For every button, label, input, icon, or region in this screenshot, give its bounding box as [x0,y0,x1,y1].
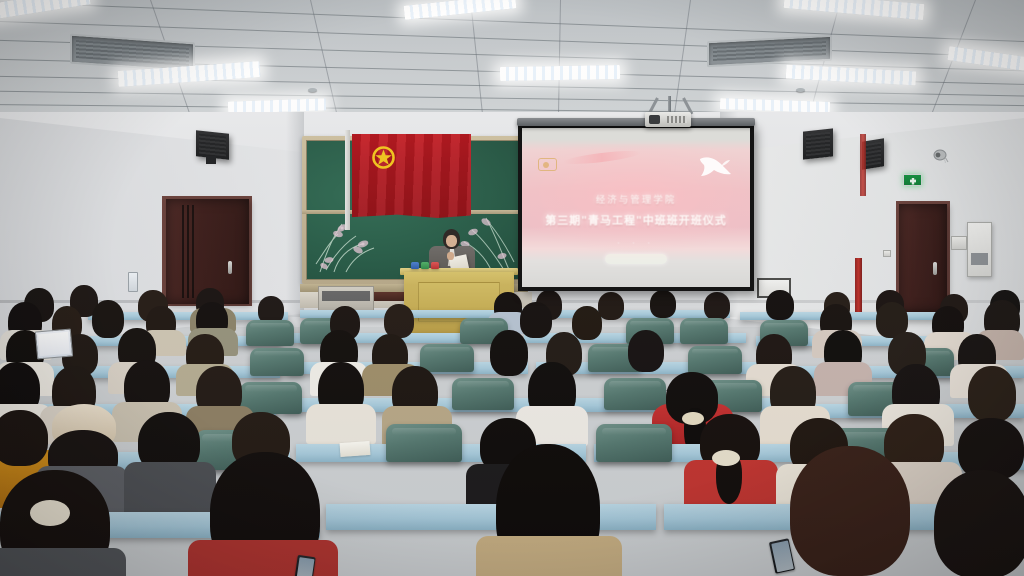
red-column [855,258,862,314]
ac-vent-right [707,35,832,68]
wall-outlet-box-right [951,236,967,250]
smoke-detector-right [796,88,805,92]
chalk-flower-drawing-left [312,214,398,280]
ceiling-light-6 [784,0,925,20]
light-switch-plate-left[interactable] [128,272,138,292]
slide-ornament-dots: · · · [522,239,750,248]
flag-star-emblem [371,145,396,170]
slide-main-line: 第三期"青马工程"中班班开班仪式 [522,212,750,228]
desk-papers[interactable] [340,441,371,457]
projection-screen-case [517,118,755,126]
speaker-mount-left [206,156,216,164]
projection-screen: 经济与管理学院 第三期"青马工程"中班班开班仪式 · · · [522,128,750,287]
classroom-photo-scene: 经济与管理学院 第三期"青马工程"中班班开班仪式 · · · [0,0,1024,576]
ceiling-light-7 [786,65,917,86]
flag-rope [345,130,350,230]
ceiling-projector [645,112,691,127]
red-cap-item [431,262,439,269]
wall-speaker-right [803,128,833,159]
slide-badge-icon [538,158,557,171]
right-rear-door[interactable] [899,204,947,312]
slide-pill-banner [605,254,667,264]
left-door-handle[interactable] [228,261,232,274]
exit-sign [903,174,922,186]
mobile-phone-right[interactable] [769,538,795,573]
hair-scrunchie [682,412,704,425]
right-door-handle[interactable] [933,262,937,275]
slide-org-line: 经济与管理学院 [522,192,750,206]
speaker-hand [447,252,454,260]
laptop-screen-2 [35,328,73,359]
ceiling-light-1 [0,0,91,20]
hair-bow [30,500,70,526]
youth-league-flag [352,134,471,218]
wall-plate-right [883,250,891,257]
projector-vent [667,116,687,123]
projector-lens [649,115,660,124]
smoke-detector-left [308,88,317,92]
laptop-screen-2-content [38,332,70,357]
speaker-face [446,235,457,247]
projection-screen-frame: 经济与管理学院 第三期"青马工程"中班班开班仪式 · · · [518,124,754,291]
security-camera [932,148,949,162]
red-column-upper [860,134,866,196]
blue-cap-item [411,262,419,269]
electrical-panel [967,222,992,277]
ceiling-light-4 [404,0,517,20]
dove-icon [698,153,732,179]
mobile-phone-left[interactable] [294,555,315,576]
ceiling-light-5 [500,65,620,81]
green-cap-item [421,262,429,269]
